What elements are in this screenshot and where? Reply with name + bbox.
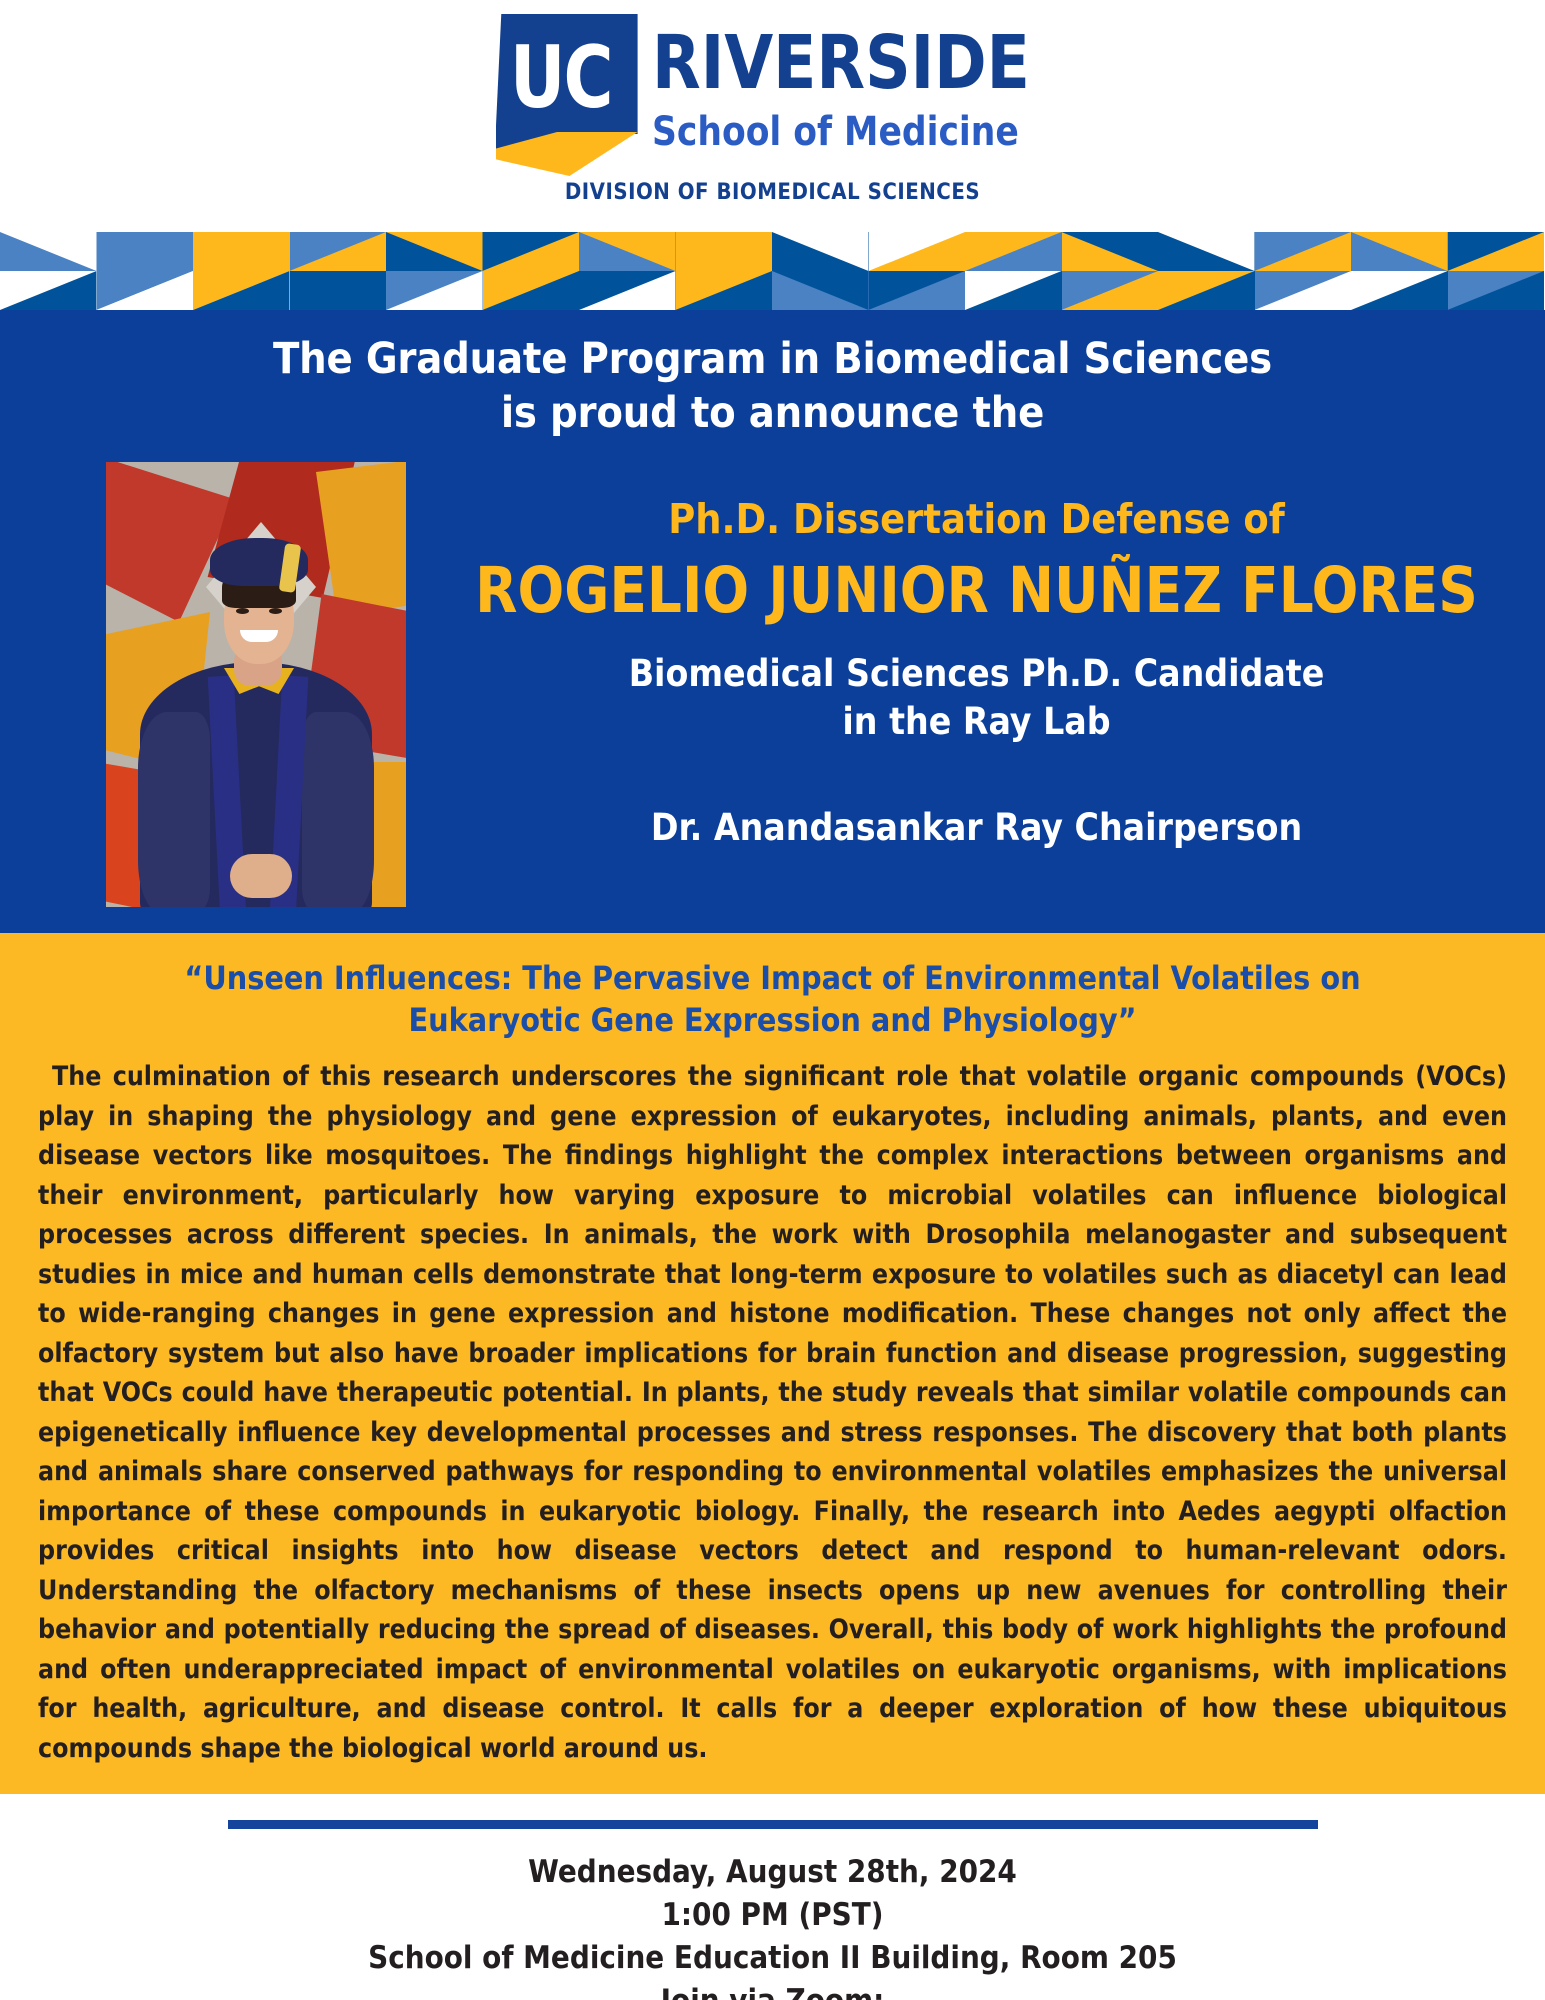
candidate-role-line-1: Biomedical Sciences Ph.D. Candidate [432,650,1521,698]
event-time: 1:00 PM (PST) [0,1894,1545,1937]
uc-banner-mark-icon: UC [496,14,638,174]
pattern-tile [483,232,580,310]
announcement-line-1: The Graduate Program in Biomedical Scien… [0,332,1545,386]
candidate-role-line-2: in the Ray Lab [432,698,1521,746]
pattern-tile [676,232,773,310]
footer-divider [228,1820,1318,1829]
candidate-photo [106,462,406,907]
abstract-section: “Unseen Influences: The Pervasive Impact… [0,933,1545,1794]
pattern-tile [290,232,387,310]
dissertation-title-line-2: Eukaryotic Gene Expression and Physiolog… [38,999,1507,1041]
pattern-tile [1158,232,1255,310]
pattern-tile [1255,232,1352,310]
chairperson-name: Dr. Anandasankar Ray Chairperson [432,804,1521,852]
pattern-tile [0,232,97,310]
abstract-text: The culmination of this research undersc… [38,1057,1507,1768]
logo-row: UC RIVERSIDE School of Medicine [496,14,1050,174]
logo-text-column: RIVERSIDE School of Medicine [652,14,1050,154]
defense-body: Ph.D. Dissertation Defense of ROGELIO JU… [0,462,1545,907]
announcement-section: The Graduate Program in Biomedical Scien… [0,310,1545,933]
school-of-medicine-text: School of Medicine [652,110,1034,154]
pattern-tile [193,232,290,310]
pattern-tile [1062,232,1159,310]
event-type-label: Ph.D. Dissertation Defense of [432,494,1521,544]
pattern-tile [97,232,194,310]
uc-riverside-logo: UC RIVERSIDE School of Medicine DIVISION… [0,14,1545,205]
event-location: School of Medicine Education II Building… [0,1937,1545,1980]
pattern-tile [869,232,966,310]
riverside-wordmark: RIVERSIDE [652,26,1030,100]
dissertation-title-line-1: “Unseen Influences: The Pervasive Impact… [38,957,1507,999]
pattern-tile [965,232,1062,310]
announcement-line-2: is proud to announce the [0,386,1545,440]
defense-text-block: Ph.D. Dissertation Defense of ROGELIO JU… [406,462,1521,852]
event-details-footer: Wednesday, August 28th, 2024 1:00 PM (PS… [0,1794,1545,2000]
decorative-pattern-band [0,232,1545,310]
pattern-tile [386,232,483,310]
dissertation-defense-flyer: UC RIVERSIDE School of Medicine DIVISION… [0,0,1545,2000]
candidate-name: ROGELIO JUNIOR NUÑEZ FLORES [448,554,1504,628]
logo-header: UC RIVERSIDE School of Medicine DIVISION… [0,0,1545,232]
join-via-zoom-label: Join via Zoom: [0,1980,1545,2000]
pattern-tile [1351,232,1448,310]
pattern-tile [579,232,676,310]
candidate-figure [106,462,406,907]
uc-monogram-text: UC [510,28,623,128]
division-subtitle: DIVISION OF BIOMEDICAL SCIENCES [565,180,980,205]
event-date: Wednesday, August 28th, 2024 [0,1851,1545,1894]
pattern-tile [772,232,869,310]
pattern-tile [1448,232,1545,310]
